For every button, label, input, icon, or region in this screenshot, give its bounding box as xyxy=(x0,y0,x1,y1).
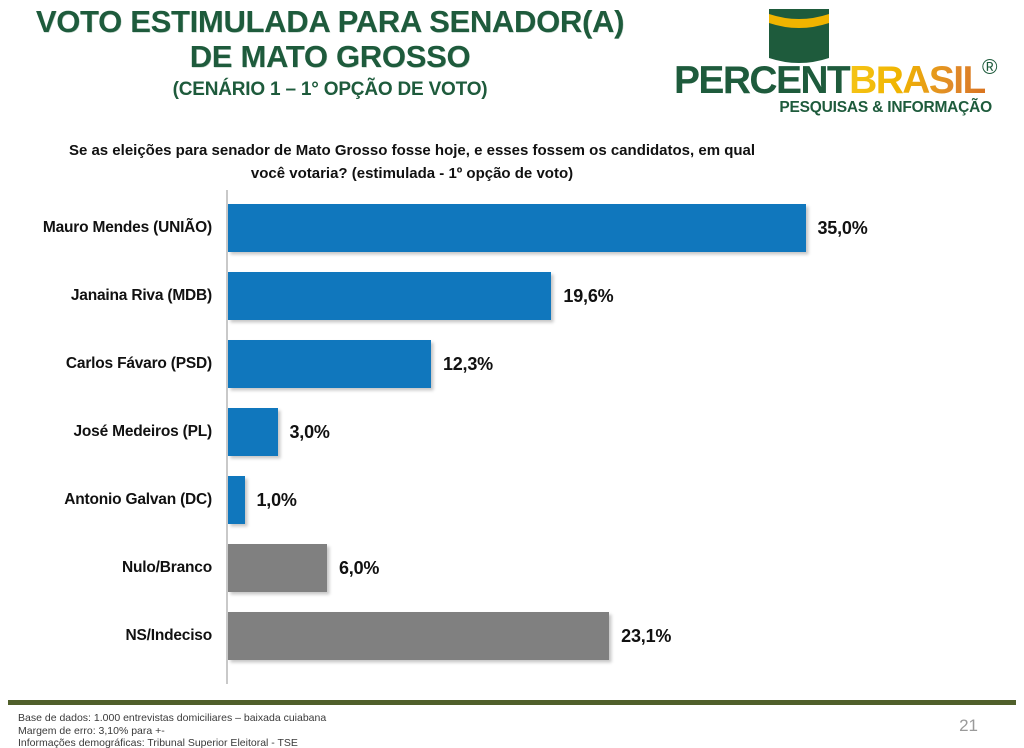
registered-trademark-icon: ® xyxy=(982,56,997,80)
title-line-2: DE MATO GROSSO xyxy=(0,39,660,74)
bar-track: 12,3% xyxy=(228,330,1024,398)
bar-track: 1,0% xyxy=(228,466,1024,534)
chart-bar-row: Antonio Galvan (DC)1,0% xyxy=(0,466,1024,534)
bar-category-label: NS/Indeciso xyxy=(0,602,212,670)
bar-category-label: Janaina Riva (MDB) xyxy=(0,262,212,330)
bar-track: 6,0% xyxy=(228,534,1024,602)
bar-category-label: Mauro Mendes (UNIÃO) xyxy=(0,194,212,262)
page-title: VOTO ESTIMULADA PARA SENADOR(A) DE MATO … xyxy=(0,4,660,102)
bar-track: 23,1% xyxy=(228,602,1024,670)
bar-value-label: 12,3% xyxy=(443,330,493,398)
bar-segment xyxy=(228,272,551,320)
bar-track: 3,0% xyxy=(228,398,1024,466)
bar-segment xyxy=(228,408,278,456)
bar-value-label: 6,0% xyxy=(339,534,379,602)
logo-wordmark: PERCENTBRASIL xyxy=(674,60,984,102)
brand-logo: PERCENTBRASIL ® PESQUISAS & INFORMAÇÃO xyxy=(674,4,1010,116)
bar-chart: Mauro Mendes (UNIÃO)35,0%Janaina Riva (M… xyxy=(0,190,1024,690)
slide-root: VOTO ESTIMULADA PARA SENADOR(A) DE MATO … xyxy=(0,0,1024,748)
footer-line-2: Margem de erro: 3,10% para +- xyxy=(18,725,618,738)
title-line-1: VOTO ESTIMULADA PARA SENADOR(A) xyxy=(0,4,660,39)
chart-bar-row: Janaina Riva (MDB)19,6% xyxy=(0,262,1024,330)
bar-segment xyxy=(228,204,806,252)
chart-bar-row: Nulo/Branco6,0% xyxy=(0,534,1024,602)
bar-category-label: Nulo/Branco xyxy=(0,534,212,602)
bar-category-label: José Medeiros (PL) xyxy=(0,398,212,466)
footer-line-3: Informações demográficas: Tribunal Super… xyxy=(18,737,618,748)
footer-line-1: Base de dados: 1.000 entrevistas domicil… xyxy=(18,712,618,725)
bar-category-label: Antonio Galvan (DC) xyxy=(0,466,212,534)
logo-tagline: PESQUISAS & INFORMAÇÃO xyxy=(674,99,992,117)
logo-word-brasil: BRASIL xyxy=(849,59,985,102)
bar-segment xyxy=(228,544,327,592)
bar-segment xyxy=(228,612,609,660)
bar-segment xyxy=(228,476,245,524)
survey-question: Se as eleições para senador de Mato Gros… xyxy=(62,139,762,185)
footer-notes: Base de dados: 1.000 entrevistas domicil… xyxy=(18,712,618,748)
chart-bar-row: José Medeiros (PL)3,0% xyxy=(0,398,1024,466)
footer-divider xyxy=(8,700,1016,705)
bar-value-label: 35,0% xyxy=(818,194,868,262)
bar-value-label: 19,6% xyxy=(563,262,613,330)
chart-bar-row: Mauro Mendes (UNIÃO)35,0% xyxy=(0,194,1024,262)
title-subtitle: (CENÁRIO 1 – 1° OPÇÃO DE VOTO) xyxy=(0,78,660,102)
bar-track: 19,6% xyxy=(228,262,1024,330)
logo-word-percent: PERCENT xyxy=(674,59,849,102)
page-number: 21 xyxy=(959,716,978,736)
bar-track: 35,0% xyxy=(228,194,1024,262)
bar-value-label: 3,0% xyxy=(290,398,330,466)
bar-segment xyxy=(228,340,431,388)
bar-category-label: Carlos Fávaro (PSD) xyxy=(0,330,212,398)
bar-value-label: 1,0% xyxy=(257,466,297,534)
chart-bar-row: NS/Indeciso23,1% xyxy=(0,602,1024,670)
shield-icon xyxy=(766,6,832,66)
chart-bar-row: Carlos Fávaro (PSD)12,3% xyxy=(0,330,1024,398)
bar-value-label: 23,1% xyxy=(621,602,671,670)
